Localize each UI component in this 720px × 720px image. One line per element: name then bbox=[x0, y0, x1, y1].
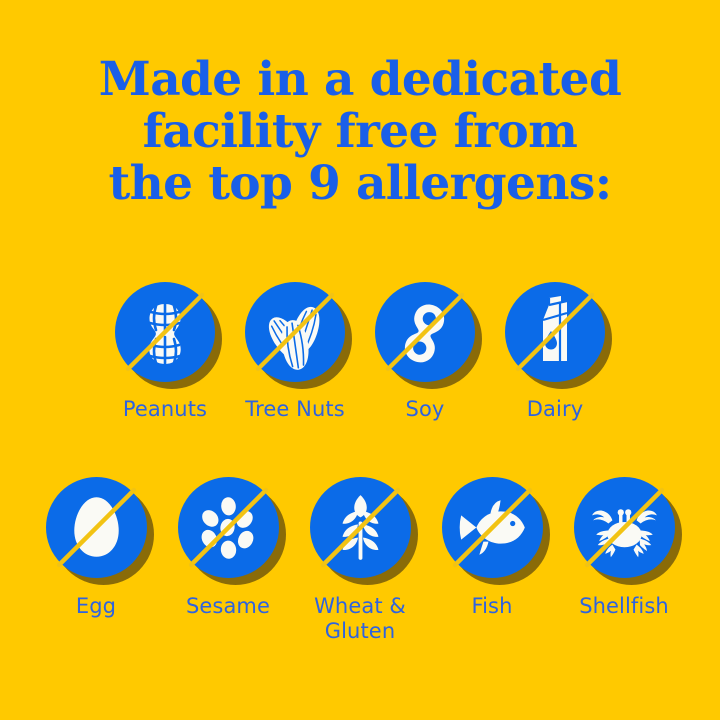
allergen-label: Dairy bbox=[527, 397, 583, 422]
badge-disc bbox=[46, 477, 147, 578]
allergen-badge-wheat-gluten bbox=[310, 477, 411, 578]
allergen-badge-dairy bbox=[505, 282, 605, 382]
allergen-label: Wheat & Gluten bbox=[314, 594, 406, 644]
allergen-item-wheat-gluten: Wheat & Gluten bbox=[294, 477, 426, 644]
allergen-item-soy: Soy bbox=[360, 282, 490, 422]
allergen-label: Fish bbox=[471, 594, 512, 619]
badge-disc bbox=[115, 282, 215, 382]
soybean-pod-icon bbox=[375, 282, 475, 382]
badge-disc bbox=[574, 477, 675, 578]
wheat-stalk-icon bbox=[310, 477, 411, 578]
allergen-badge-tree-nuts bbox=[245, 282, 345, 382]
badge-disc bbox=[310, 477, 411, 578]
allergen-label: Peanuts bbox=[123, 397, 207, 422]
allergen-badge-fish bbox=[442, 477, 543, 578]
badge-disc bbox=[178, 477, 279, 578]
allergen-row-2: Egg bbox=[0, 477, 720, 644]
egg-icon bbox=[46, 477, 147, 578]
fish-icon bbox=[442, 477, 543, 578]
milk-carton-icon bbox=[505, 282, 605, 382]
allergen-item-tree-nuts: Tree Nuts bbox=[230, 282, 360, 422]
allergen-item-peanuts: Peanuts bbox=[100, 282, 230, 422]
allergen-label: Tree Nuts bbox=[245, 397, 345, 422]
allergen-badge-sesame bbox=[178, 477, 279, 578]
headline-line-3: the top 9 allergens: bbox=[0, 158, 720, 210]
allergen-badge-peanuts bbox=[115, 282, 215, 382]
sesame-seeds-icon bbox=[178, 477, 279, 578]
allergen-item-dairy: Dairy bbox=[490, 282, 620, 422]
allergen-item-sesame: Sesame bbox=[162, 477, 294, 619]
allergen-label: Soy bbox=[406, 397, 445, 422]
allergen-item-fish: Fish bbox=[426, 477, 558, 619]
allergen-label: Sesame bbox=[186, 594, 270, 619]
allergen-item-egg: Egg bbox=[30, 477, 162, 619]
allergen-badge-egg bbox=[46, 477, 147, 578]
headline-line-1: Made in a dedicated bbox=[0, 54, 720, 106]
crab-icon bbox=[574, 477, 675, 578]
page-title: Made in a dedicated facility free from t… bbox=[0, 54, 720, 210]
allergen-label: Shellfish bbox=[579, 594, 669, 619]
headline-line-2: facility free from bbox=[0, 106, 720, 158]
badge-disc bbox=[505, 282, 605, 382]
allergen-label: Egg bbox=[76, 594, 116, 619]
almond-icon bbox=[245, 282, 345, 382]
allergen-badge-shellfish bbox=[574, 477, 675, 578]
allergen-row-1: Peanuts bbox=[0, 282, 720, 422]
allergen-badge-soy bbox=[375, 282, 475, 382]
badge-disc bbox=[245, 282, 345, 382]
allergen-poster: Made in a dedicated facility free from t… bbox=[0, 0, 720, 720]
allergen-item-shellfish: Shellfish bbox=[558, 477, 690, 619]
badge-disc bbox=[375, 282, 475, 382]
badge-disc bbox=[442, 477, 543, 578]
peanut-icon bbox=[115, 282, 215, 382]
